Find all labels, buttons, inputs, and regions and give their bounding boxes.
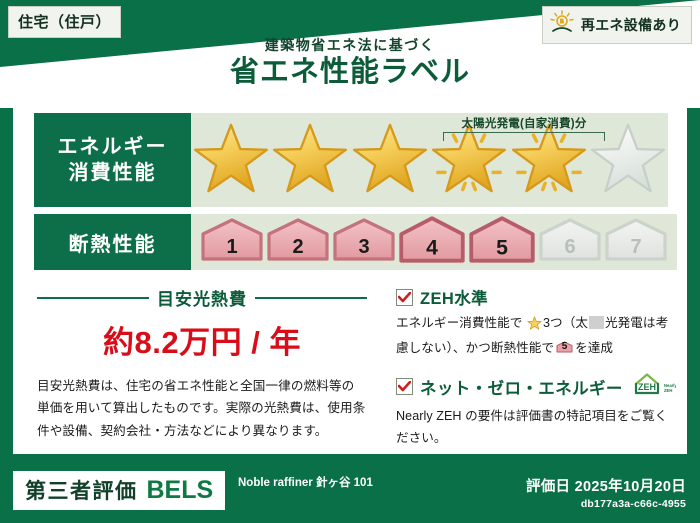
star-icon-empty-6 — [589, 121, 667, 200]
svg-text:4: 4 — [426, 236, 438, 259]
svg-text:3: 3 — [358, 236, 369, 258]
house-icon-grade-3: 3 — [331, 217, 397, 267]
house-icon-inline-number: 5 — [556, 339, 573, 355]
bels-jp-label: 第三者評価 — [25, 475, 138, 505]
energy-label-line1: エネルギー — [58, 134, 168, 160]
net-zero-energy-title: ネット・ゼロ・エネルギー — [420, 375, 623, 399]
house-icon-grade-7: 7 — [603, 217, 669, 267]
checkbox-checked-icon-net-zero — [396, 378, 413, 395]
star-icon-filled-solar-5 — [510, 121, 588, 200]
redacted-block — [589, 316, 604, 329]
svg-text:ZEH: ZEH — [664, 388, 672, 393]
zeh-standard-title: ZEH水準 — [420, 285, 488, 309]
insulation-grade-field: 1 2 3 — [191, 214, 677, 270]
evaluation-date: 評価日 2025年10月20日 — [526, 475, 686, 496]
title-main: 省エネ性能ラベル — [0, 54, 700, 90]
zeh-body-text-4: を達成 — [575, 341, 613, 355]
sun-solar-icon — [549, 10, 575, 39]
svg-text:2: 2 — [292, 236, 303, 258]
heading-rule-right — [255, 297, 367, 299]
house-icon-inline-grade-5: 5 — [556, 339, 573, 355]
housing-type-label: 住宅（住戸） — [18, 14, 111, 31]
housing-type-tag: 住宅（住戸） — [8, 6, 121, 38]
utility-cost-note: 目安光熱費は、住宅の省エネ性能と全国一律の燃料等の単価を用いて算出したものです。… — [37, 375, 367, 442]
label-body-panel: エネルギー 消費性能 太陽光発電(自家消費)分 — [13, 99, 687, 454]
house-icon-grade-1: 1 — [199, 217, 265, 267]
utility-cost-heading-text: 目安光熱費 — [157, 285, 247, 310]
svg-text:7: 7 — [630, 236, 641, 258]
renewable-energy-label: 再エネ設備あり — [581, 15, 681, 35]
label-title-group: 建築物省エネ法に基づく 省エネ性能ラベル — [0, 38, 700, 91]
zeh-standard-item: ZEH水準 エネルギー消費性能で 3つ（太光発電は考慮しない）、かつ断熱性能で … — [396, 285, 676, 359]
energy-label-root: 住宅（住戸） 再エネ設備あり 建築物省エネ法に基づく 省エネ性能ラベル — [0, 0, 700, 523]
star-icon-filled-solar-4 — [430, 121, 508, 200]
insulation-performance-label: 断熱性能 — [34, 214, 191, 270]
star-icon-filled-1 — [192, 121, 270, 200]
energy-performance-label: エネルギー 消費性能 — [34, 113, 191, 207]
net-zero-energy-header: ネット・ゼロ・エネルギー ZEH Nearly ZEH — [396, 371, 676, 402]
svg-text:5: 5 — [496, 236, 508, 259]
utility-cost-section: 目安光熱費 約8.2万円 / 年 目安光熱費は、住宅の省エネ性能と全国一律の燃料… — [37, 285, 367, 442]
label-footer: 第三者評価 BELS Noble raffiner 針ヶ谷 101 評価日 20… — [0, 461, 700, 523]
footer-meta: 評価日 2025年10月20日 db177a3a-c66c-4955 — [526, 475, 686, 510]
energy-performance-row: エネルギー 消費性能 太陽光発電(自家消費)分 — [34, 113, 668, 207]
house-icon-grade-4: 4 — [397, 216, 467, 269]
property-name: Noble raffiner 針ヶ谷 101 — [238, 476, 488, 492]
bels-certification-plate: 第三者評価 BELS — [13, 471, 225, 510]
svg-text:ZEH: ZEH — [638, 382, 656, 392]
insulation-label-text: 断熱性能 — [69, 228, 157, 257]
net-zero-energy-item: ネット・ゼロ・エネルギー ZEH Nearly ZEH Nearly ZEH の… — [396, 371, 676, 449]
house-icon-grade-2: 2 — [265, 217, 331, 267]
zeh-body-text-2: 3つ（太 — [543, 316, 588, 330]
house-icon-grade-5: 5 — [467, 216, 537, 269]
star-icon-inline — [523, 319, 542, 333]
svg-text:1: 1 — [226, 236, 237, 258]
zeh-standard-body: エネルギー消費性能で 3つ（太光発電は考慮しない）、かつ断熱性能で 5 を達成 — [396, 313, 676, 359]
bels-en-label: BELS — [147, 476, 214, 505]
renewable-energy-badge: 再エネ設備あり — [542, 6, 692, 44]
svg-text:6: 6 — [564, 236, 575, 258]
heading-rule-left — [37, 297, 149, 299]
energy-label-line2: 消費性能 — [69, 160, 157, 186]
star-icon-filled-2 — [271, 121, 349, 200]
utility-cost-value: 約8.2万円 / 年 — [37, 317, 367, 362]
insulation-performance-row: 断熱性能 1 — [34, 214, 668, 270]
utility-cost-heading: 目安光熱費 — [37, 285, 367, 310]
evaluation-id: db177a3a-c66c-4955 — [526, 498, 686, 510]
zeh-section: ZEH水準 エネルギー消費性能で 3つ（太光発電は考慮しない）、かつ断熱性能で … — [396, 285, 676, 462]
energy-star-field: 太陽光発電(自家消費)分 — [191, 113, 668, 207]
zeh-standard-header: ZEH水準 — [396, 285, 676, 309]
net-zero-energy-body: Nearly ZEH の要件は評価書の特記項目をご覧ください。 — [396, 406, 676, 449]
checkbox-checked-icon-zeh-standard — [396, 289, 413, 306]
house-icon-grade-6: 6 — [537, 217, 603, 267]
zeh-body-text-1: エネルギー消費性能で — [396, 316, 522, 330]
zeh-house-logo: ZEH Nearly ZEH — [630, 371, 676, 402]
star-icon-filled-3 — [351, 121, 429, 200]
